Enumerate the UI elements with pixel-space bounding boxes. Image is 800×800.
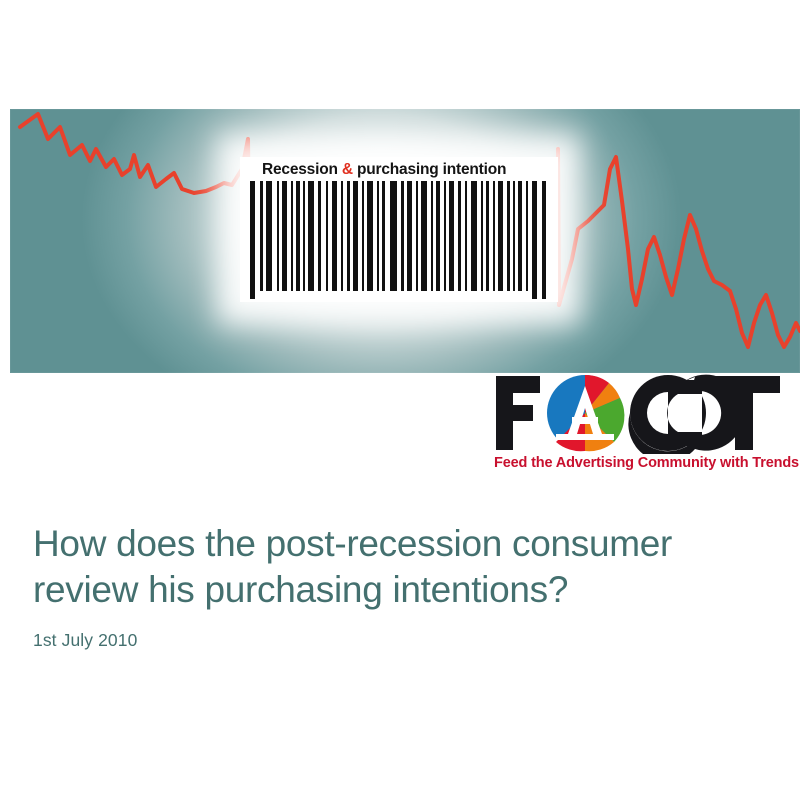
hero-banner: Recession & purchasing intention [10,109,800,373]
logo-letter-a-mark [547,375,624,451]
fact-logo: Feed the Advertising Community with Tren… [492,372,792,477]
page-title: How does the post-recession consumer rev… [33,521,763,613]
logo-letter-f [496,376,540,450]
barcode-bars [244,181,554,299]
trend-line-right [558,149,800,347]
barcode-panel: Recession & purchasing intention [240,157,558,302]
fact-tagline: Feed the Advertising Community with Tren… [494,455,792,471]
page-date: 1st July 2010 [33,630,763,651]
barcode-title-ampersand: & [342,161,353,178]
fact-wordmark [492,372,792,454]
barcode-title: Recession & purchasing intention [262,161,542,179]
barcode-title-word-2: purchasing [357,161,439,178]
barcode-title-word-1: Recession [262,161,338,178]
barcode-title-word-3: intention [443,161,507,178]
title-block: How does the post-recession consumer rev… [33,521,763,651]
trend-line-left [20,114,250,299]
